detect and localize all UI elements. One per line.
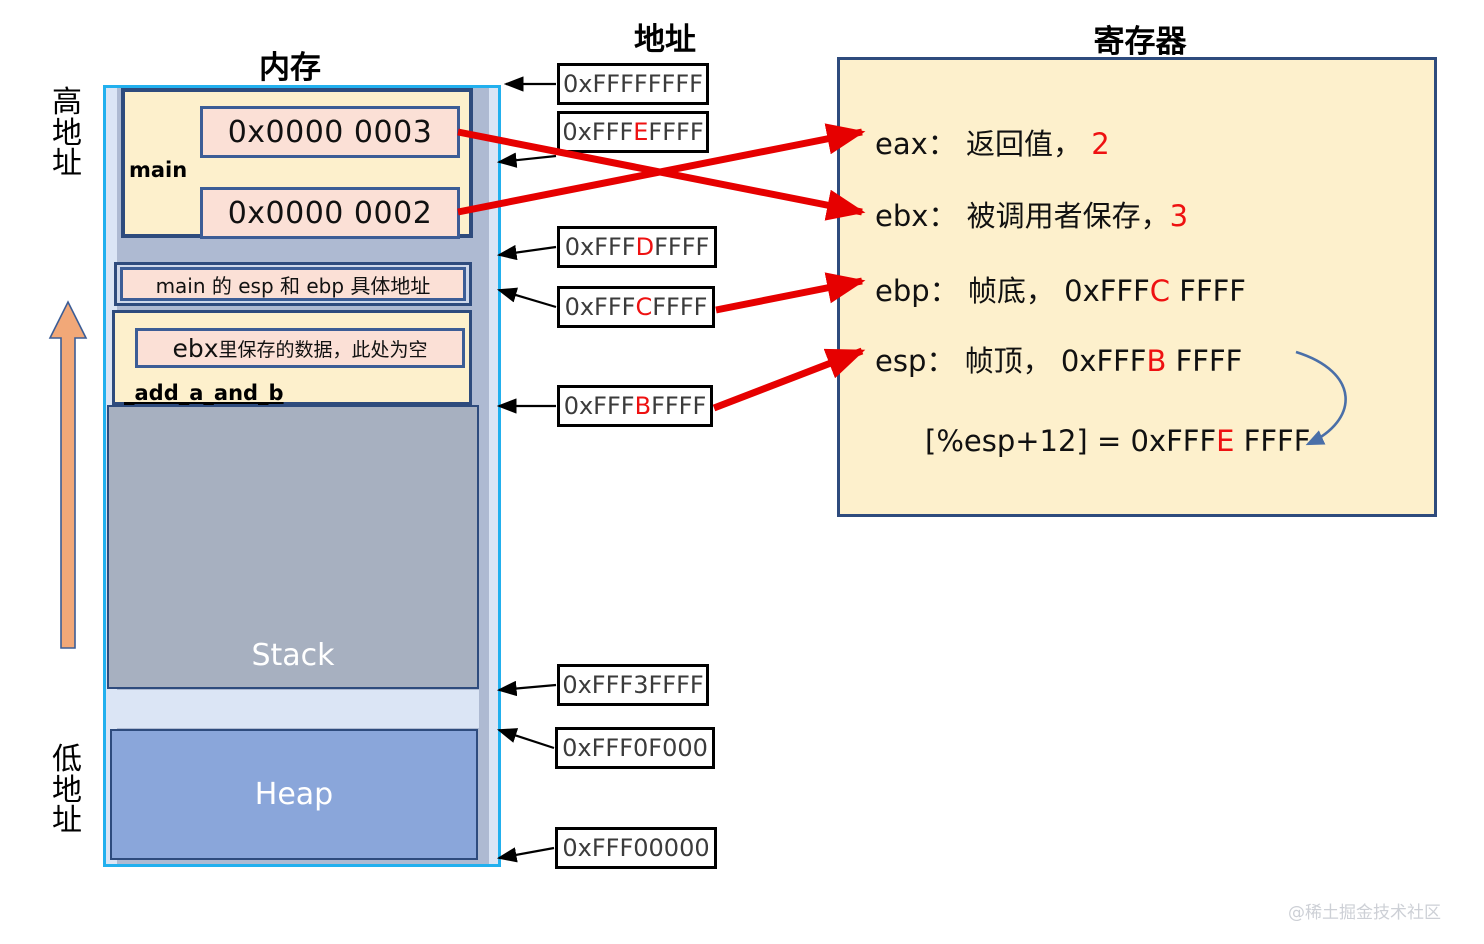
diagram-canvas: 内存 地址 寄存器 高地址 低地址 main 0x0000 0003 0x000…: [0, 0, 1484, 944]
address-pointer-lines: [499, 84, 556, 858]
register-row-ebp: ebp： 帧底， 0xFFFC FFFF: [875, 268, 1246, 310]
growth-direction-arrow-icon: [48, 300, 88, 654]
address-box-fff0-0000: 0xFFF0 0000: [555, 827, 717, 869]
heap-region: Heap: [110, 729, 478, 860]
value-to-register-arrows: [458, 132, 862, 408]
stack-region: Stack: [107, 405, 479, 689]
register-row-esp: esp： 帧顶， 0xFFFB FFFF: [875, 338, 1242, 380]
address-box-fffb-ffff: 0xFFFB FFFF: [557, 385, 713, 427]
stack-value-0003: 0x0000 0003: [200, 106, 460, 158]
address-box-fff0-f000: 0xFFF0 F000: [555, 727, 715, 769]
address-box-fffe-ffff: 0xFFFE FFFF: [557, 111, 709, 153]
saved-ebx-row-prefix: ebx: [172, 334, 218, 363]
saved-ebx-row-rest: 里保存的数据，此处为空: [219, 335, 428, 362]
stack-value-0002: 0x0000 0002: [200, 187, 460, 239]
address-title: 地址: [575, 14, 755, 59]
high-address-label: 高地址: [46, 88, 88, 180]
main-frame-label: main: [129, 158, 187, 182]
address-box-ffff-ffff: 0xFFFF FFFF: [557, 63, 709, 105]
add-function-label: _add_a_and_b: [124, 381, 284, 405]
stack-region-label: Stack: [251, 638, 334, 687]
address-box-fff3-ffff: 0xFFF3 FFFF: [557, 664, 709, 706]
registers-title: 寄存器: [1050, 16, 1230, 61]
heap-region-label: Heap: [255, 777, 333, 812]
low-address-label: 低地址: [46, 745, 88, 837]
address-box-fffc-ffff: 0xFFFC FFFF: [557, 286, 715, 328]
saved-esp-ebp-row: main 的 esp 和 ebp 具体地址: [120, 267, 466, 301]
register-row-ebx: ebx： 被调用者保存，3: [875, 193, 1188, 235]
saved-ebx-row: ebx里保存的数据，此处为空: [135, 328, 465, 368]
register-row-eax: eax： 返回值， 2: [875, 121, 1110, 163]
memory-title: 内存: [200, 42, 380, 87]
watermark: @稀土掘金技术社区: [1288, 898, 1441, 923]
unmapped-gap-region: [107, 690, 479, 728]
address-box-fffd-ffff: 0xFFFD FFFF: [557, 226, 717, 268]
register-row-esp-offset: [%esp+12] = 0xFFFE FFFF: [925, 424, 1310, 458]
